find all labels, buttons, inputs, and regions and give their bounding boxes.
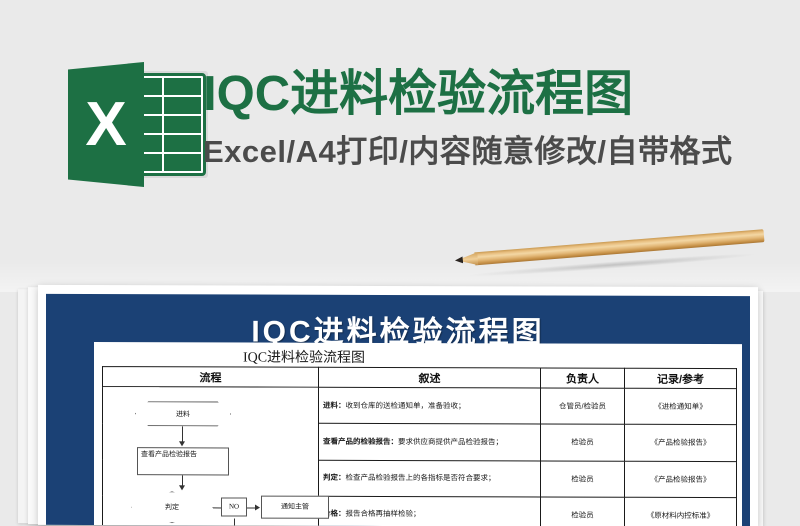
excel-grid-cell — [164, 135, 201, 152]
flow-node-notify-label: 通知主管 — [281, 503, 309, 512]
description-body: 检查产品检验报告上的各指标是否符合要求； — [346, 473, 496, 482]
flow-node-branch-no[interactable]: NO — [221, 497, 247, 516]
excel-logo-letter: X — [68, 62, 144, 187]
flow-node-decision-label: 判定 — [165, 502, 179, 512]
excel-logo-icon: X — [68, 62, 208, 187]
hero-section: X IQC进料检验流程图 Excel/A4打印/内容随意修改/自带格式 — [0, 0, 800, 270]
flow-connector-notify-return — [234, 518, 235, 526]
process-table: 流程 叙述 负责人 记录/参考 进料 — [102, 366, 737, 526]
flow-node-branch-no-label: NO — [229, 502, 239, 511]
table-cell-description: 查看产品的检验报告：要求供应商提供产品检验报告； — [319, 424, 541, 461]
flow-node-report[interactable]: 查看产品检验报告 — [137, 447, 229, 475]
description-keyword: 进料： — [323, 400, 346, 409]
description-body: 报告合格再抽样检验； — [346, 509, 421, 518]
description-keyword: 查看产品的检验报告： — [323, 437, 398, 446]
excel-grid-cell — [164, 116, 201, 133]
table-cell-description: 判定：检查产品检验报告上的各指标是否符合要求； — [319, 460, 541, 497]
flow-arrowhead-down — [179, 485, 185, 490]
flow-arrowhead-down — [179, 441, 185, 446]
table-cell-owner: 检验员 — [541, 424, 625, 461]
column-header-owner: 负责人 — [541, 368, 625, 388]
page-title: IQC进料检验流程图 — [203, 66, 633, 122]
excel-grid-cell — [164, 154, 201, 171]
document-preview[interactable]: IQC进料检验流程图 IQC进料检验流程图 流程 叙述 负责人 记录/参考 — [38, 285, 758, 526]
table-cell-record: 《产品检验报告》 — [625, 424, 737, 461]
column-header-flow: 流程 — [103, 367, 319, 388]
table-cell-description: 合格：报告合格再抽样检验； — [319, 496, 541, 526]
column-header-description: 叙述 — [319, 367, 541, 388]
table-cell-record: 《原材料内控标准》 — [625, 497, 737, 526]
spreadsheet-title: IQC进料检验流程图 — [94, 346, 514, 367]
spreadsheet-canvas[interactable]: IQC进料检验流程图 流程 叙述 负责人 记录/参考 进料 — [94, 342, 742, 526]
table-header-row: 流程 叙述 负责人 记录/参考 — [103, 367, 737, 389]
flow-node-start-label: 进料 — [176, 409, 190, 419]
description-body: 要求供应商提供产品检验报告； — [398, 437, 503, 446]
excel-grid-cell — [164, 97, 201, 114]
flow-connector-start-to-report — [182, 426, 183, 442]
description-body: 收到仓库的送检通知单，准备验收； — [346, 400, 466, 409]
page-subtitle: Excel/A4打印/内容随意修改/自带格式 — [203, 133, 732, 171]
description-keyword: 判定： — [323, 473, 346, 482]
pencil-graphite-tip — [455, 256, 464, 264]
flow-node-report-label: 查看产品检验报告 — [141, 451, 197, 458]
flowchart-cell[interactable]: 进料 查看产品检验报告 判定 — [103, 387, 319, 526]
flow-node-start: 进料 — [135, 401, 231, 426]
table-row: 进料 查看产品检验报告 判定 — [103, 387, 737, 425]
table-cell-record: 《产品检验报告》 — [625, 461, 737, 498]
table-cell-description: 进料：收到仓库的送检通知单，准备验收； — [319, 387, 541, 424]
flow-node-decision[interactable]: 判定 — [131, 491, 213, 523]
column-header-record: 记录/参考 — [625, 368, 737, 388]
poster-page: X IQC进料检验流程图 Excel/A4打印/内容随意修改/自带格式 IQC进… — [0, 0, 800, 526]
flow-arrowhead-right — [255, 505, 260, 511]
flow-node-notify[interactable]: 通知主管 — [261, 496, 329, 519]
excel-grid-cell — [164, 78, 201, 95]
table-cell-owner: 检验员 — [541, 497, 625, 526]
table-cell-owner: 检验员 — [541, 460, 625, 497]
table-cell-owner: 仓管员/检验员 — [541, 388, 625, 425]
table-cell-record: 《进检通知单》 — [625, 388, 737, 425]
